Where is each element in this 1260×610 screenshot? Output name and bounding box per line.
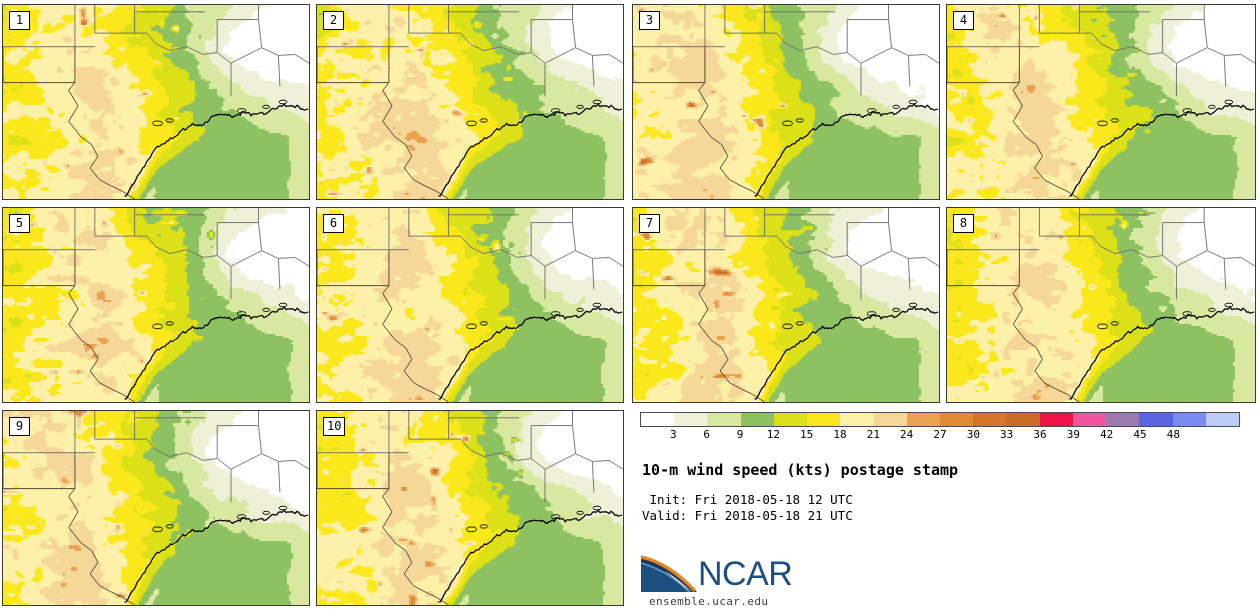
colorbar-swatch [774,413,807,426]
colorbar-swatch [741,413,774,426]
ncar-logo-mark [640,554,698,594]
colorbar-swatch [807,413,840,426]
colorbar-swatch [874,413,907,426]
panel-number-label: 5 [9,214,30,233]
colorbar-tick: 21 [867,428,880,441]
colorbar-swatch [1006,413,1039,426]
colorbar-tick: 12 [767,428,780,441]
colorbar-swatch [1106,413,1139,426]
page-title: 10-m wind speed (kts) postage stamp [642,461,958,479]
wind-speed-field [317,208,623,402]
panel-number-label: 1 [9,11,30,30]
map-panel-8[interactable]: 8 [946,207,1256,403]
colorbar-swatch [1139,413,1172,426]
map-panel-4[interactable]: 4 [946,4,1256,200]
panel-number-label: 10 [323,417,345,436]
wind-speed-field [317,411,623,605]
colorbar-tick-labels: 36912151821242730333639424548 [640,428,1240,444]
colorbar-swatch [840,413,873,426]
colorbar-tick: 3 [670,428,677,441]
colorbar-tick: 39 [1067,428,1080,441]
map-panel-2[interactable]: 2 [316,4,624,200]
wind-speed-field [317,5,623,199]
colorbar-swatch [940,413,973,426]
colorbar-tick: 45 [1133,428,1146,441]
colorbar-tick: 42 [1100,428,1113,441]
colorbar-tick: 33 [1000,428,1013,441]
wind-speed-field [3,208,309,402]
panel-number-label: 9 [9,417,30,436]
panel-number-label: 3 [639,11,660,30]
colorbar-swatch [973,413,1006,426]
panel-number-label: 7 [639,214,660,233]
wind-speed-field [947,208,1255,402]
wind-speed-field [3,411,309,605]
map-panel-10[interactable]: 10 [316,410,624,606]
ncar-wordmark: NCAR [698,555,792,593]
map-panel-7[interactable]: 7 [632,207,940,403]
colorbar-tick: 48 [1167,428,1180,441]
ncar-logo: NCAR ensemble.ucar.edu [640,554,940,610]
colorbar-swatch [641,413,674,426]
colorbar-swatch [907,413,940,426]
colorbar-swatch [1073,413,1106,426]
colorbar-tick: 18 [833,428,846,441]
colorbar-swatch [707,413,740,426]
ncar-url: ensemble.ucar.edu [649,595,768,608]
wind-speed-field [633,5,939,199]
map-panel-6[interactable]: 6 [316,207,624,403]
postage-stamp-figure: 12345678910 3691215182124273033363942454… [0,0,1260,610]
wind-speed-field [633,208,939,402]
panel-number-label: 4 [953,11,974,30]
colorbar-tick: 27 [933,428,946,441]
panel-number-label: 6 [323,214,344,233]
map-panel-1[interactable]: 1 [2,4,310,200]
init-time-line: Init: Fri 2018-05-18 12 UTC [642,492,853,507]
panel-number-label: 2 [323,11,344,30]
colorbar [640,412,1240,427]
valid-time-line: Valid: Fri 2018-05-18 21 UTC [642,508,853,523]
map-panel-9[interactable]: 9 [2,410,310,606]
colorbar-swatch [674,413,707,426]
colorbar-tick: 36 [1033,428,1046,441]
colorbar-tick: 30 [967,428,980,441]
colorbar-tick: 15 [800,428,813,441]
legend-area: 36912151821242730333639424548 10-m wind … [636,406,1260,610]
map-panel-5[interactable]: 5 [2,207,310,403]
colorbar-swatch [1206,413,1239,426]
panel-number-label: 8 [953,214,974,233]
map-panel-3[interactable]: 3 [632,4,940,200]
wind-speed-field [3,5,309,199]
colorbar-swatch [1040,413,1073,426]
wind-speed-field [947,5,1255,199]
colorbar-swatch [1173,413,1206,426]
colorbar-tick: 9 [737,428,744,441]
colorbar-tick: 6 [703,428,710,441]
colorbar-tick: 24 [900,428,913,441]
